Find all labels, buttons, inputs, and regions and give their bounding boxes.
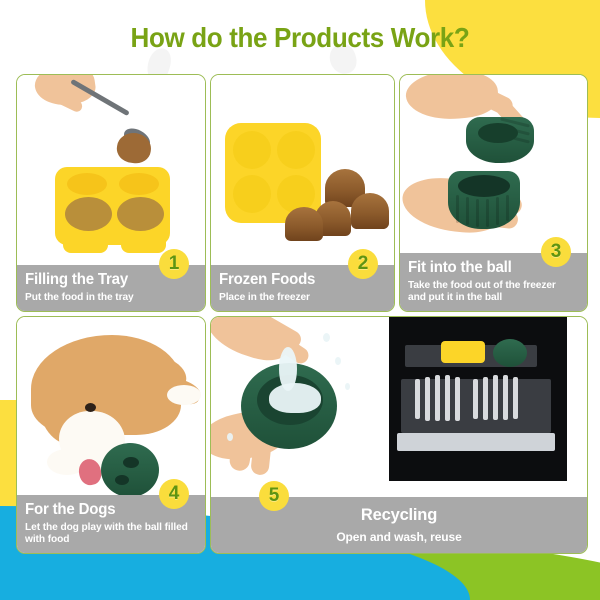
step-2-image	[211, 75, 394, 265]
steps-grid: 1 Filling the Tray Put the food in the t…	[16, 74, 584, 579]
step-4-caption: 4 For the Dogs Let the dog play with the…	[17, 495, 205, 553]
step-1-image	[17, 75, 205, 265]
step-4-image	[17, 317, 205, 495]
step-2-subtitle: Place in the freezer	[219, 291, 381, 303]
step-5-subtitle: Open and wash, reuse	[219, 531, 579, 545]
step-3-subtitle: Take the food out of the freezer and put…	[408, 279, 574, 303]
step-card-4[interactable]: 4 For the Dogs Let the dog play with the…	[16, 316, 206, 554]
step-card-1[interactable]: 1 Filling the Tray Put the food in the t…	[16, 74, 206, 312]
step-3-image	[400, 75, 587, 253]
step-3-caption: 3 Fit into the ball Take the food out of…	[400, 253, 587, 311]
step-card-5[interactable]: 5 Recycling Open and wash, reuse	[210, 316, 588, 554]
illustration-washing-ball	[211, 317, 387, 497]
step-1-caption: 1 Filling the Tray Put the food in the t…	[17, 265, 205, 311]
illustration-filling-tray	[17, 75, 205, 265]
step-card-3[interactable]: 3 Fit into the ball Take the food out of…	[399, 74, 588, 312]
step-5-image	[211, 317, 587, 497]
step-card-2[interactable]: 2 Frozen Foods Place in the freezer	[210, 74, 395, 312]
illustration-frozen-foods	[211, 75, 394, 265]
step-5-caption: 5 Recycling Open and wash, reuse	[211, 497, 587, 553]
illustration-fit-into-ball	[400, 75, 587, 253]
page-title: How do the Products Work?	[21, 22, 579, 54]
illustration-dog-playing	[17, 317, 205, 495]
step-4-subtitle: Let the dog play with the ball filled wi…	[25, 521, 192, 545]
step-1-subtitle: Put the food in the tray	[25, 291, 192, 303]
step-2-caption: 2 Frozen Foods Place in the freezer	[211, 265, 394, 311]
illustration-dishwasher	[389, 317, 587, 497]
step-5-badge: 5	[259, 481, 289, 511]
